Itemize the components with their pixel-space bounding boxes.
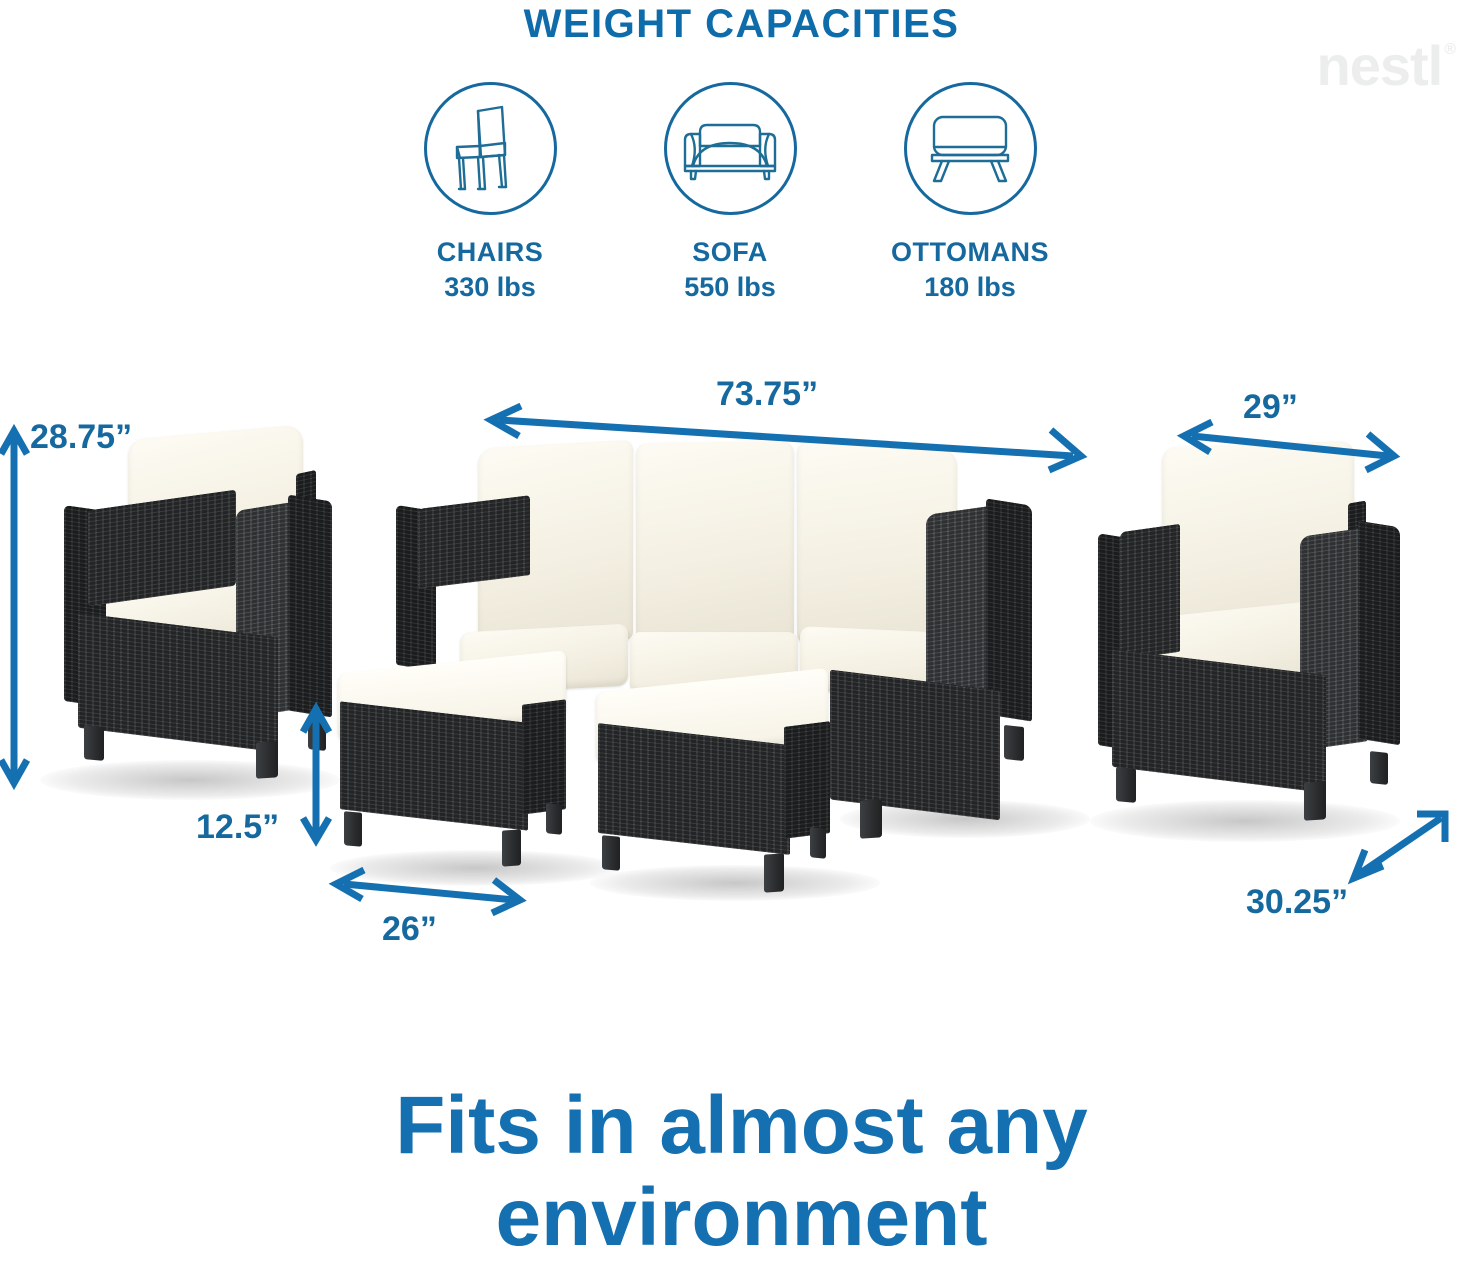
capacity-value-sofa: 550 lbs xyxy=(684,272,776,303)
leg xyxy=(84,725,104,761)
leg xyxy=(344,811,362,847)
capacity-item-sofa: SOFA 550 lbs xyxy=(630,82,830,303)
brand-logo-text: nestl xyxy=(1317,38,1443,94)
leg xyxy=(764,853,784,892)
capacity-icon-circle-chairs xyxy=(424,82,557,215)
right-arm xyxy=(986,498,1032,721)
tagline-line-2: environment xyxy=(0,1172,1483,1264)
dimension-arrow-ottoman-width xyxy=(330,872,530,912)
leg xyxy=(502,829,521,866)
dimension-label-ottoman-width: 26” xyxy=(382,910,437,949)
back-cushion xyxy=(636,441,794,643)
ottoman-left xyxy=(332,660,592,890)
leg xyxy=(1004,725,1024,761)
left-arm-inner xyxy=(418,495,530,589)
dimension-arrow-sofa-width xyxy=(485,408,1085,468)
sofa-icon xyxy=(682,114,778,184)
dimension-label-chair-width: 29” xyxy=(1243,388,1298,427)
dimension-label-chair-depth: 30.25” xyxy=(1246,883,1348,922)
ottoman-body-front xyxy=(598,723,790,855)
dimension-arrow-ottoman-height xyxy=(296,700,340,850)
right-arm xyxy=(1358,521,1400,746)
dimension-arrow-chair-depth xyxy=(1345,808,1455,888)
capacity-item-ottomans: OTTOMANS 180 lbs xyxy=(870,82,1070,303)
weight-capacities-group: CHAIRS 330 lbs SOFA 550 lbs xyxy=(390,82,1070,332)
tagline-line-1: Fits in almost any xyxy=(0,1080,1483,1172)
leg xyxy=(256,741,278,779)
ottoman-icon xyxy=(928,113,1012,185)
capacity-label-chairs: CHAIRS xyxy=(437,237,544,268)
capacity-value-chairs: 330 lbs xyxy=(444,272,536,303)
ottoman-body-side xyxy=(522,699,566,814)
capacity-label-ottomans: OTTOMANS xyxy=(891,237,1049,268)
base-front xyxy=(78,613,278,753)
dimension-arrow-chair-height xyxy=(0,420,40,800)
base-front xyxy=(1112,649,1326,793)
dimension-label-chair-height: 28.75” xyxy=(30,418,132,457)
ottoman-body-front xyxy=(340,701,528,830)
right-armchair xyxy=(1090,436,1410,816)
capacity-icon-circle-ottomans xyxy=(904,82,1037,215)
brand-logo: nestl® xyxy=(1240,38,1455,100)
leg xyxy=(860,799,882,839)
ottoman-right xyxy=(590,678,860,918)
ottoman-body-side xyxy=(784,721,830,839)
tagline: Fits in almost any environment xyxy=(0,1080,1483,1264)
leg xyxy=(602,835,620,871)
capacity-value-ottomans: 180 lbs xyxy=(924,272,1016,303)
dimension-label-sofa-width: 73.75” xyxy=(716,375,818,414)
dimension-arrow-chair-width xyxy=(1180,424,1400,470)
dimension-label-ottoman-height: 12.5” xyxy=(196,808,279,847)
leg xyxy=(1370,751,1388,785)
leg xyxy=(546,803,562,835)
leg xyxy=(810,827,826,859)
left-arm-inner xyxy=(1120,524,1180,660)
capacity-label-sofa: SOFA xyxy=(692,237,768,268)
dining-chair-icon xyxy=(447,103,533,195)
capacity-item-chairs: CHAIRS 330 lbs xyxy=(390,82,590,303)
right-arm-side xyxy=(288,495,332,718)
capacity-icon-circle-sofa xyxy=(664,82,797,215)
registered-trademark-icon: ® xyxy=(1444,42,1455,58)
leg xyxy=(1304,781,1326,821)
leg xyxy=(1116,767,1136,803)
